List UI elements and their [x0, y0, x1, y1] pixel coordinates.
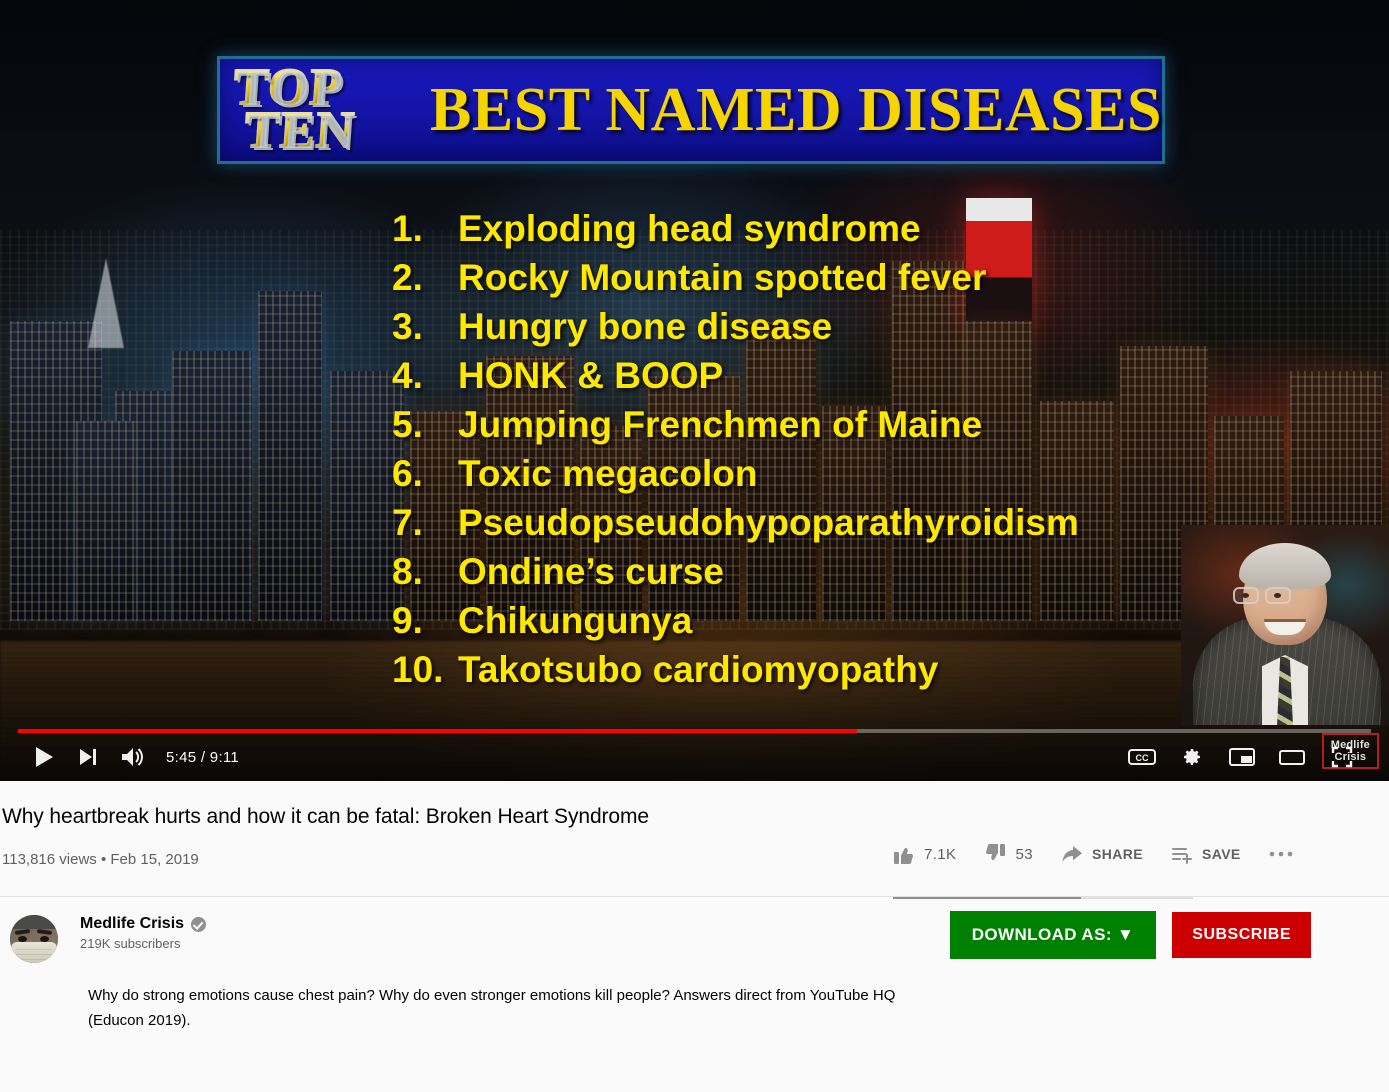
share-label: SHARE [1092, 846, 1143, 862]
volume-icon[interactable] [110, 746, 154, 768]
list-item-number: 6. [392, 453, 458, 495]
save-label: SAVE [1202, 846, 1241, 862]
more-options-dots [1269, 850, 1293, 858]
page-title: Why heartbreak hurts and how it can be f… [0, 805, 1389, 829]
fullscreen-icon[interactable] [1317, 745, 1367, 769]
list-item-label: Takotsubo cardiomyopathy [458, 649, 938, 691]
list-item-number: 1. [392, 208, 458, 250]
channel-name: Medlife Crisis [80, 915, 184, 933]
views-and-date: 113,816 views • Feb 15, 2019 [2, 851, 199, 868]
channel-buttons: DOWNLOAD AS: ▼ SUBSCRIBE [950, 911, 1311, 959]
subscribe-button[interactable]: SUBSCRIBE [1172, 912, 1311, 958]
list-item: 5. Jumping Frenchmen of Maine [392, 404, 1152, 453]
list-item: 7. Pseudopseudohypoparathyroidism [392, 502, 1152, 551]
meta-row: 113,816 views • Feb 15, 2019 7.1K [0, 851, 1389, 868]
more-options-icon[interactable] [1269, 850, 1302, 858]
list-item: 6. Toxic megacolon [392, 453, 1152, 502]
dislike-count: 53 [1015, 846, 1033, 863]
dislike-button[interactable]: 53 [984, 843, 1033, 865]
list-item: 2. Rocky Mountain spotted fever [392, 257, 1152, 306]
verified-badge-icon [191, 917, 206, 932]
share-arrow-icon [1061, 844, 1083, 864]
theater-mode-icon[interactable] [1267, 747, 1317, 767]
avatar[interactable] [10, 915, 58, 963]
share-button[interactable]: SHARE [1061, 844, 1143, 864]
list-item-number: 3. [392, 306, 458, 348]
banner-title: BEST NAMED DISEASES [422, 75, 1162, 146]
video-description: Why do strong emotions cause chest pain?… [88, 983, 918, 1033]
channel-name-row[interactable]: Medlife Crisis [80, 915, 206, 933]
action-buttons: 7.1K 53 SHARE [893, 843, 1302, 865]
like-count: 7.1K [924, 846, 956, 863]
chrysler-building-spire [88, 258, 124, 348]
list-item: 9. Chikungunya [392, 600, 1152, 649]
list-item: 8. Ondine’s curse [392, 551, 1152, 600]
host-eye [1274, 593, 1281, 598]
next-track-icon[interactable] [66, 747, 110, 767]
video-player[interactable]: TOP TEN BEST NAMED DISEASES 1. Exploding… [0, 0, 1389, 781]
building-silhouette [76, 421, 134, 621]
channel-info: Medlife Crisis 219K subscribers [80, 915, 206, 951]
building-silhouette [258, 291, 322, 621]
list-item: 10. Takotsubo cardiomyopathy [392, 649, 1152, 698]
like-button[interactable]: 7.1K [893, 843, 956, 865]
gear-icon[interactable] [1167, 745, 1217, 769]
list-item: 3. Hungry bone disease [392, 306, 1152, 355]
save-button[interactable]: SAVE [1171, 844, 1241, 864]
disease-list: 1. Exploding head syndrome 2. Rocky Moun… [392, 208, 1152, 698]
top-ten-logo-ten: TEN [243, 110, 422, 153]
channel-row: Medlife Crisis 219K subscribers DOWNLOAD… [0, 897, 1389, 963]
list-item-number: 4. [392, 355, 458, 397]
list-item-label: Jumping Frenchmen of Maine [458, 404, 982, 446]
list-item: 4. HONK & BOOP [392, 355, 1152, 404]
closed-captions-icon[interactable]: CC [1117, 747, 1167, 767]
list-item-label: Exploding head syndrome [458, 208, 921, 250]
list-item-label: Ondine’s curse [458, 551, 724, 593]
list-item-label: HONK & BOOP [458, 355, 723, 397]
list-item-number: 7. [392, 502, 458, 544]
avatar-surgical-mask [11, 942, 57, 963]
miniplayer-icon[interactable] [1217, 747, 1267, 767]
top-ten-banner: TOP TEN BEST NAMED DISEASES [217, 56, 1165, 164]
thumbs-down-icon [984, 843, 1006, 865]
list-item-label: Pseudopseudohypoparathyroidism [458, 502, 1079, 544]
video-meta: Why heartbreak hurts and how it can be f… [0, 781, 1389, 897]
svg-text:CC: CC [1136, 753, 1149, 763]
download-as-button[interactable]: DOWNLOAD AS: ▼ [950, 911, 1157, 959]
video-timestamp: 5:45 / 9:11 [166, 749, 239, 766]
list-item: 1. Exploding head syndrome [392, 208, 1152, 257]
save-playlist-icon [1171, 844, 1193, 864]
host-eye [1242, 593, 1249, 598]
list-item-number: 2. [392, 257, 458, 299]
list-item-number: 9. [392, 600, 458, 642]
list-item-number: 5. [392, 404, 458, 446]
list-item-label: Rocky Mountain spotted fever [458, 257, 986, 299]
top-ten-logo: TOP TEN [229, 67, 425, 152]
list-item-label: Hungry bone disease [458, 306, 832, 348]
building-silhouette [172, 351, 252, 621]
list-item-number: 10. [392, 649, 458, 691]
play-icon[interactable] [22, 746, 66, 768]
list-item-label: Toxic megacolon [458, 453, 758, 495]
avatar-hair [12, 915, 56, 929]
subscriber-count: 219K subscribers [80, 936, 206, 951]
list-item-label: Chikungunya [458, 600, 692, 642]
host-portrait [1181, 525, 1389, 725]
list-item-number: 8. [392, 551, 458, 593]
player-controls: 5:45 / 9:11 CC [0, 733, 1389, 781]
thumbs-up-icon [893, 843, 915, 865]
